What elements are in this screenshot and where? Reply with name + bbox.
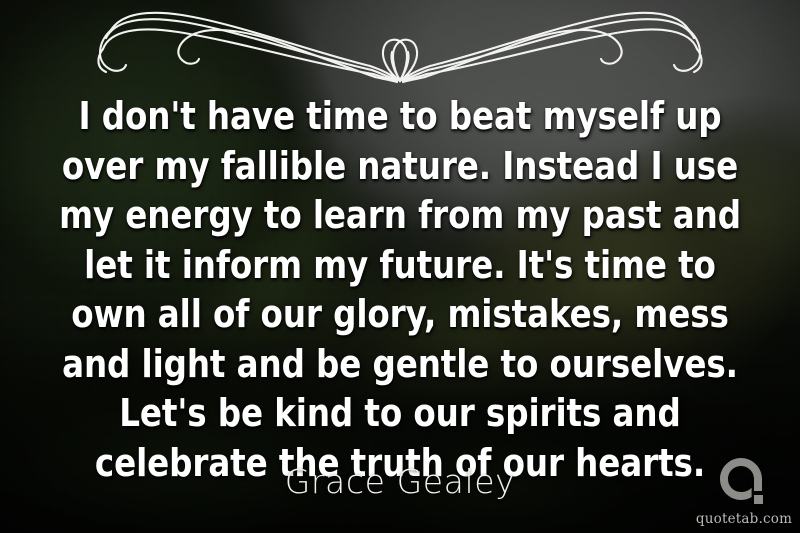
quote-card: I don't have time to beat myself up over…: [0, 0, 800, 533]
branding-watermark[interactable]: quotetab.com: [696, 456, 792, 527]
flourish-divider-icon: [70, 8, 730, 86]
branding-site-label: quotetab.com: [696, 511, 792, 527]
quotetab-q-logo-icon: [718, 456, 770, 510]
quote-author: Grace Gealey: [0, 462, 800, 501]
quote-text: I don't have time to beat myself up over…: [58, 92, 742, 488]
